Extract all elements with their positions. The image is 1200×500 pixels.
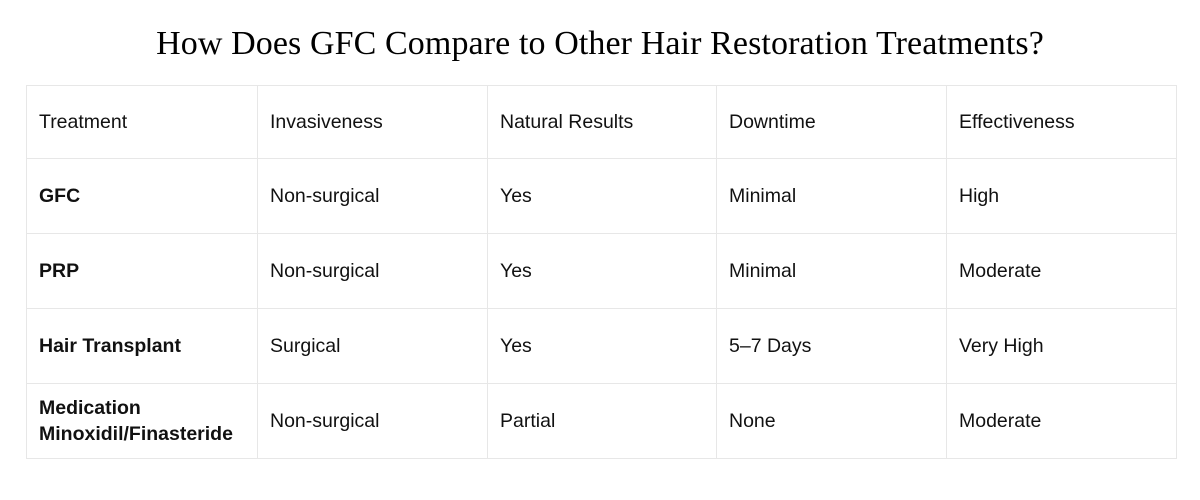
cell-downtime: 5–7 Days — [717, 309, 947, 384]
page-title: How Does GFC Compare to Other Hair Resto… — [0, 20, 1200, 68]
column-header-natural-results: Natural Results — [488, 86, 717, 159]
treatment-name: PRP — [39, 258, 243, 284]
cell-effectiveness: Moderate — [947, 384, 1177, 459]
cell-treatment: Medication Minoxidil/Finasteride — [27, 384, 258, 459]
cell-effectiveness: Moderate — [947, 234, 1177, 309]
table-row: Hair Transplant Surgical Yes 5–7 Days Ve… — [27, 309, 1177, 384]
page-root: How Does GFC Compare to Other Hair Resto… — [0, 0, 1200, 500]
column-header-effectiveness: Effectiveness — [947, 86, 1177, 159]
cell-effectiveness: Very High — [947, 309, 1177, 384]
column-header-invasiveness: Invasiveness — [258, 86, 488, 159]
cell-downtime: Minimal — [717, 234, 947, 309]
column-header-downtime: Downtime — [717, 86, 947, 159]
cell-invasiveness: Surgical — [258, 309, 488, 384]
cell-downtime: Minimal — [717, 159, 947, 234]
comparison-table-container: Treatment Invasiveness Natural Results D… — [26, 85, 1176, 459]
cell-treatment: GFC — [27, 159, 258, 234]
cell-natural-results: Yes — [488, 309, 717, 384]
comparison-table: Treatment Invasiveness Natural Results D… — [26, 85, 1177, 459]
table-row: PRP Non-surgical Yes Minimal Moderate — [27, 234, 1177, 309]
treatment-name-sub: Minoxidil/Finasteride — [39, 421, 243, 447]
cell-invasiveness: Non-surgical — [258, 234, 488, 309]
cell-invasiveness: Non-surgical — [258, 384, 488, 459]
cell-treatment: Hair Transplant — [27, 309, 258, 384]
cell-natural-results: Partial — [488, 384, 717, 459]
table-header-row: Treatment Invasiveness Natural Results D… — [27, 86, 1177, 159]
column-header-treatment: Treatment — [27, 86, 258, 159]
cell-treatment: PRP — [27, 234, 258, 309]
cell-downtime: None — [717, 384, 947, 459]
cell-natural-results: Yes — [488, 159, 717, 234]
table-row: Medication Minoxidil/Finasteride Non-sur… — [27, 384, 1177, 459]
table-header: Treatment Invasiveness Natural Results D… — [27, 86, 1177, 159]
cell-invasiveness: Non-surgical — [258, 159, 488, 234]
treatment-name: Hair Transplant — [39, 333, 243, 359]
treatment-name: Medication — [39, 395, 243, 421]
cell-effectiveness: High — [947, 159, 1177, 234]
table-row: GFC Non-surgical Yes Minimal High — [27, 159, 1177, 234]
cell-natural-results: Yes — [488, 234, 717, 309]
table-body: GFC Non-surgical Yes Minimal High PRP No… — [27, 159, 1177, 459]
treatment-name: GFC — [39, 183, 243, 209]
